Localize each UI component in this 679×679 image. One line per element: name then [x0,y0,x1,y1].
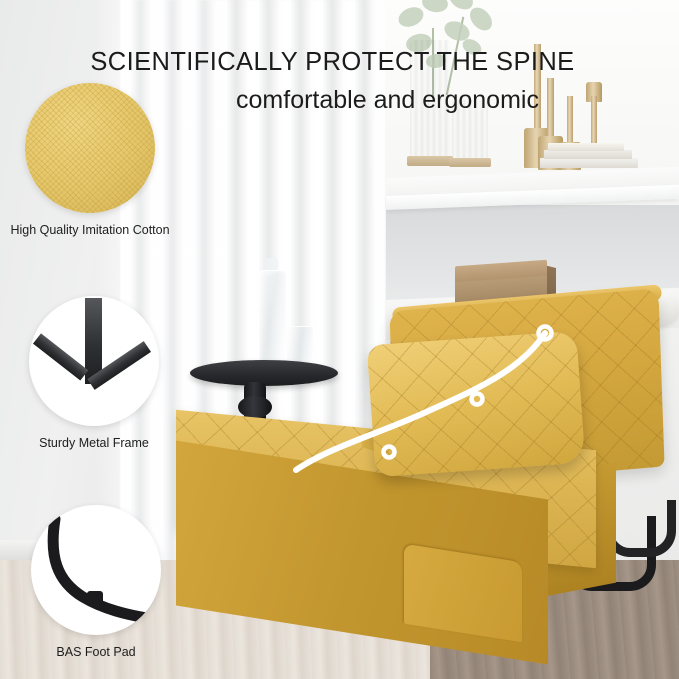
vase-base-tall [407,156,453,166]
product-marketing-image: SCIENTIFICALLY PROTECT THE SPINE comfort… [0,0,679,679]
metal-frame-icon [29,296,159,426]
vase-base-short [449,158,491,167]
feature-label-metal-frame: Sturdy Metal Frame [14,435,174,451]
sofa-pillow [367,331,586,477]
headline-primary: SCIENTIFICALLY PROTECT THE SPINE [0,48,665,77]
feature-label-foot-pad: BAS Foot Pad [16,644,176,660]
side-table-knob-upper [238,396,272,418]
book-stack-middle [544,150,632,159]
fabric-swatch-icon [25,83,155,213]
feature-foot-pad: BAS Foot Pad [16,505,176,660]
book-stack-top [548,143,624,151]
feature-imitation-cotton: High Quality Imitation Cotton [10,83,170,238]
side-table-top [190,360,338,386]
feature-label-imitation-cotton: High Quality Imitation Cotton [10,222,170,238]
book-stack-bottom [540,158,638,168]
pillow-quilting [367,331,586,477]
feature-metal-frame: Sturdy Metal Frame [14,296,174,451]
glass-carafe [258,270,287,368]
foot-pad-icon [31,505,161,635]
